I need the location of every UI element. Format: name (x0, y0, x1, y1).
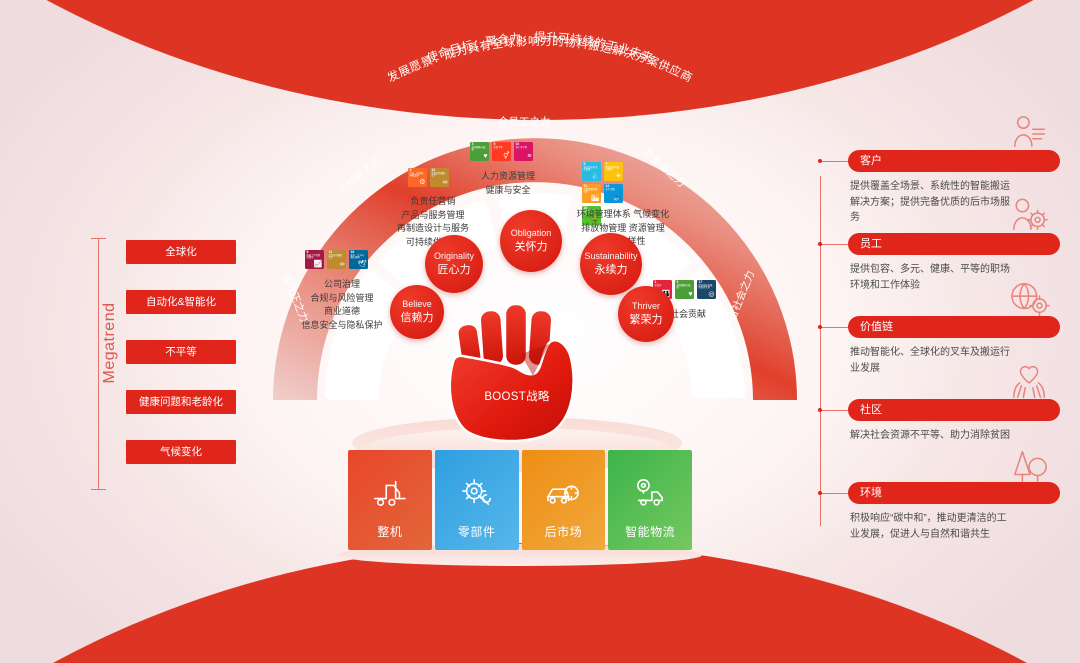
sdg-tile-ecology-11: 11可持续城市和社区🏙 (582, 184, 601, 203)
megatrend-panel: Megatrend 全球化自动化&智能化不平等健康问题和老龄化气候变化 (88, 238, 248, 490)
sdg-tile-ecology-6: 6清洁饮水和卫生设施💧 (582, 162, 601, 181)
stakeholder-connector (820, 244, 848, 245)
pillar-label-1: 零部件 (458, 523, 496, 540)
stakeholder-panel: 客户提供覆盖全场景、系统性的智能搬运解决方案；提供完备优质的后市场服务员工提供包… (820, 150, 1070, 570)
car-service-icon (543, 476, 583, 508)
bubble-believe: Believe 信赖力 (390, 285, 444, 339)
topic-compliance-3: 信息安全与隐私保护 (277, 319, 407, 333)
pillar-label-3: 智能物流 (625, 523, 675, 540)
sdg-tile-ecology-7: 7经济适用的清洁能源☀ (604, 162, 623, 181)
megatrend-axis-cap-top (91, 238, 106, 239)
bubble-sustainability-cn: 永续力 (595, 263, 628, 277)
sdg-tile-employee-3: 3良好健康与福祉♥ (470, 142, 489, 161)
stakeholder-item-3[interactable]: 社区解决社会资源不平等、助力消除贫困 (848, 399, 1060, 444)
stakeholder-dot (818, 491, 822, 495)
stakeholder-item-4[interactable]: 环境积极响应“碳中和”，推动更清洁的工业发展，促进人与自然和谐共生 (848, 482, 1060, 542)
megatrend-label: Megatrend (101, 288, 119, 398)
sdg-tile-society-17: 17促进目标实现的伙伴关系◎ (697, 280, 716, 299)
bubble-originality-cn: 匠心力 (438, 263, 471, 277)
employee-person-gear-icon (1010, 197, 1050, 235)
stakeholder-connector (820, 161, 848, 162)
smart-logistics-truck-icon (630, 476, 670, 508)
sdg-tile-employee-5: 5性别平等⚥ (492, 142, 511, 161)
sdg-tile-society-3: 3良好健康与福祉♥ (675, 280, 694, 299)
pillar-1[interactable]: 零部件 (435, 450, 519, 550)
bubble-believe-cn: 信赖力 (401, 311, 434, 325)
stakeholder-desc-0: 提供覆盖全场景、系统性的智能搬运解决方案；提供完备优质的后市场服务 (848, 179, 1010, 226)
bubble-believe-en: Believe (402, 299, 432, 310)
megatrend-item-0[interactable]: 全球化 (126, 240, 236, 264)
pillar-2[interactable]: 后市场 (522, 450, 606, 550)
stakeholder-desc-4: 积极响应“碳中和”，推动更清洁的工业发展，促进人与自然和谐共生 (848, 511, 1010, 542)
bubble-thriver-en: Thriver (632, 301, 660, 312)
segment-topics-compliance: 公司治理合规与风险管理商业道德信息安全与隐私保护 (277, 278, 407, 332)
stakeholder-dot (818, 159, 822, 163)
topic-compliance-0: 公司治理 (277, 278, 407, 292)
stakeholder-title-0[interactable]: 客户 (848, 150, 1060, 172)
stakeholder-desc-3: 解决社会资源不平等、助力消除贫困 (848, 428, 1010, 444)
stakeholder-connector (820, 493, 848, 494)
topic-compliance-2: 商业道德 (277, 305, 407, 319)
fist-illustration: BOOST战略 (437, 288, 597, 453)
stakeholder-connector (820, 410, 848, 411)
bubble-originality: Originality 匠心力 (425, 235, 483, 293)
megatrend-item-2[interactable]: 不平等 (126, 340, 236, 364)
megatrend-item-1[interactable]: 自动化&智能化 (126, 290, 236, 314)
environment-tree-icon (1010, 446, 1050, 484)
pillar-0[interactable]: 整机 (348, 450, 432, 550)
pillar-label-2: 后市场 (545, 523, 583, 540)
boost-core-label: BOOST战略 (437, 388, 597, 404)
topic-employee-0: 人力资源管理 (453, 170, 563, 184)
topic-employee-1: 健康与安全 (453, 184, 563, 198)
stakeholder-title-2[interactable]: 价值链 (848, 316, 1060, 338)
stakeholder-dot (818, 408, 822, 412)
pillar-3[interactable]: 智能物流 (608, 450, 692, 550)
forklift-icon (370, 476, 410, 508)
sdg-tile-employee-10: 10减少不平等≡ (514, 142, 533, 161)
bubble-thriver-cn: 繁荣力 (630, 313, 663, 327)
stakeholder-spine (820, 176, 821, 526)
sdg-row-innovation: 9产业、创新和基础设施⚙12负责任消费和生产∞ (408, 168, 453, 187)
value-chain-globe-gear-icon (1010, 280, 1050, 318)
topic-ecology-1: 排放物管理 资源管理 (555, 222, 691, 236)
bubble-originality-en: Originality (434, 251, 474, 262)
stakeholder-dot (818, 325, 822, 329)
bubble-sustainability: Sustainability 永续力 (580, 233, 642, 295)
megatrend-item-4[interactable]: 气候变化 (126, 440, 236, 464)
stakeholder-title-4[interactable]: 环境 (848, 482, 1060, 504)
topic-innovation-1: 产品与服务管理 (373, 209, 493, 223)
megatrend-axis (98, 238, 99, 490)
business-pillars: 整机零部件后市场智能物流 (348, 450, 692, 550)
topic-innovation-2: 再制造设计与服务 (373, 222, 493, 236)
sdg-tile-compliance-8: 8体面工作和经济增长📈 (305, 250, 324, 269)
megatrend-axis-cap-bottom (91, 489, 106, 490)
megatrend-item-3[interactable]: 健康问题和老龄化 (126, 390, 236, 414)
pillar-label-0: 整机 (377, 523, 402, 540)
segment-topics-employee: 人力资源管理健康与安全 (453, 170, 563, 197)
stakeholder-title-3[interactable]: 社区 (848, 399, 1060, 421)
segment-topics-innovation: 负责任营销产品与服务管理再制造设计与服务可持续供应链 (373, 195, 493, 249)
customer-person-list-icon (1010, 114, 1050, 152)
sdg-row-employee: 3良好健康与福祉♥5性别平等⚥10减少不平等≡ (470, 142, 540, 161)
bubble-obligation: Obligation 关怀力 (500, 210, 562, 272)
stakeholder-desc-2: 推动智能化、全球化的叉车及搬运行业发展 (848, 345, 1010, 376)
sdg-tile-compliance-16: 16和平、正义与强大机构🕊 (349, 250, 368, 269)
bubble-thriver: Thriver 繁荣力 (618, 286, 674, 342)
sdg-tile-ecology-14: 14水下生物🐟 (604, 184, 623, 203)
bubble-obligation-cn: 关怀力 (515, 240, 548, 254)
bubble-sustainability-en: Sustainability (584, 251, 637, 262)
stakeholder-desc-1: 提供包容、多元、健康、平等的职场环境和工作体验 (848, 262, 1010, 293)
topic-ecology-0: 环境管理体系 气候变化 (555, 208, 691, 222)
sdg-tile-compliance-12: 12负责任消费和生产∞ (327, 250, 346, 269)
stakeholder-connector (820, 327, 848, 328)
megatrend-list: 全球化自动化&智能化不平等健康问题和老龄化气候变化 (126, 240, 236, 464)
community-hands-heart-icon (1010, 363, 1050, 401)
bubble-obligation-en: Obligation (511, 228, 552, 239)
topic-innovation-0: 负责任营销 (373, 195, 493, 209)
stakeholder-dot (818, 242, 822, 246)
gear-wrench-icon (457, 476, 497, 508)
sdg-tile-innovation-9: 9产业、创新和基础设施⚙ (408, 168, 427, 187)
sdg-tile-innovation-12: 12负责任消费和生产∞ (430, 168, 449, 187)
stakeholder-title-1[interactable]: 员工 (848, 233, 1060, 255)
arc-label-employee: 合员工之力 (498, 114, 551, 129)
topic-compliance-1: 合规与风险管理 (277, 292, 407, 306)
infographic-canvas: 使命目标：聚合力，提升可持续的工业未来 发展愿景：成为具有全球影响力的物料搬运解… (0, 0, 1080, 663)
sdg-row-compliance: 8体面工作和经济增长📈12负责任消费和生产∞16和平、正义与强大机构🕊 (305, 250, 370, 269)
